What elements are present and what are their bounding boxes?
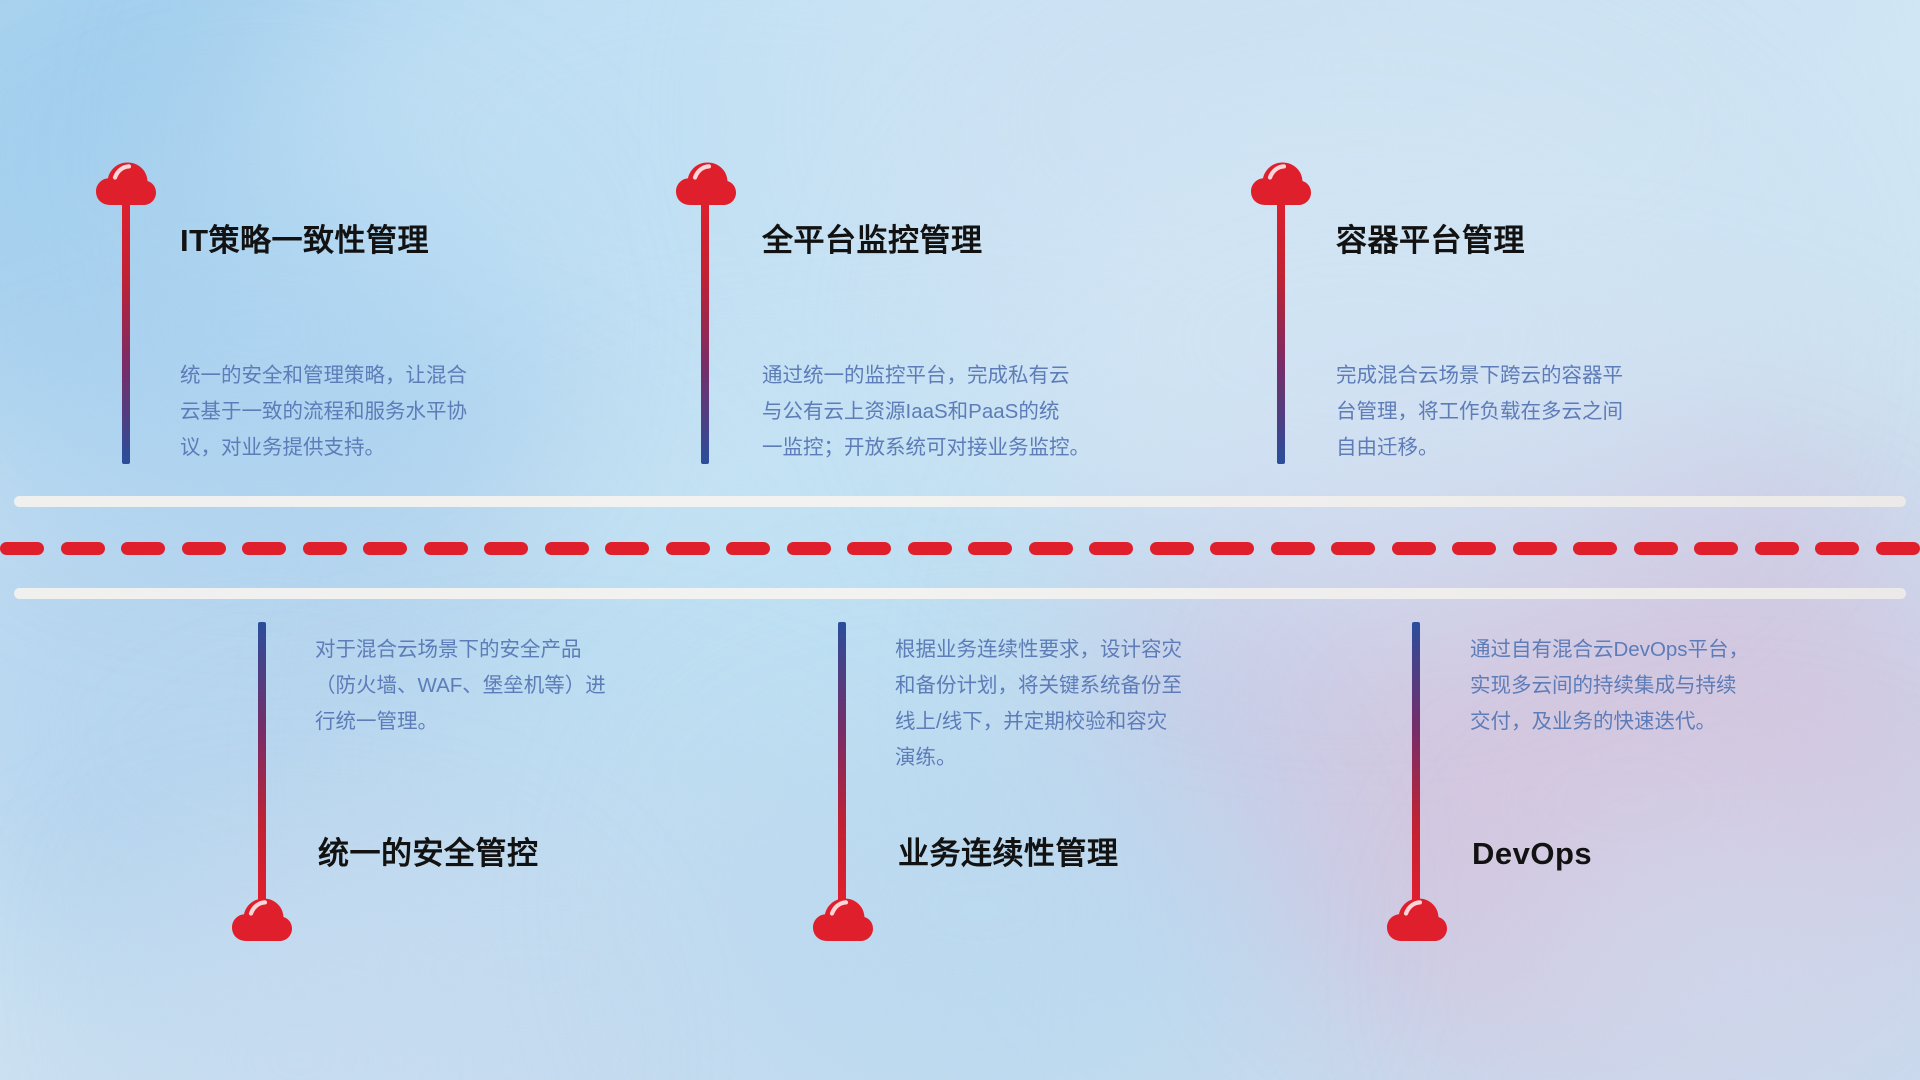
item-heading: 容器平台管理 bbox=[1336, 225, 1525, 256]
separator-dash bbox=[1513, 542, 1557, 555]
item-heading: DevOps bbox=[1472, 838, 1592, 869]
separator-dash bbox=[1089, 542, 1133, 555]
separator-dash bbox=[605, 542, 649, 555]
item-description: 对于混合云场景下的安全产品 （防火墙、WAF、堡垒机等）进 行统一管理。 bbox=[315, 632, 745, 740]
separator-dash bbox=[968, 542, 1012, 555]
item-heading: IT策略一致性管理 bbox=[180, 225, 429, 256]
separator-dash bbox=[182, 542, 226, 555]
separator-dash bbox=[484, 542, 528, 555]
separator-dash bbox=[1573, 542, 1617, 555]
separator-dash bbox=[61, 542, 105, 555]
timeline-pin bbox=[701, 198, 709, 464]
separator-dash bbox=[847, 542, 891, 555]
separator-dash bbox=[424, 542, 468, 555]
item-heading: 统一的安全管控 bbox=[318, 838, 539, 869]
timeline-pin bbox=[1277, 198, 1285, 464]
separator-dash bbox=[303, 542, 347, 555]
separator-dash bbox=[1634, 542, 1678, 555]
separator-dash bbox=[787, 542, 831, 555]
background-blob bbox=[980, 80, 1740, 600]
divider-line-lower bbox=[14, 588, 1906, 599]
separator-dash bbox=[1271, 542, 1315, 555]
separator-dash bbox=[1150, 542, 1194, 555]
cloud-icon bbox=[231, 896, 293, 942]
item-description: 完成混合云场景下跨云的容器平 台管理，将工作负载在多云之间 自由迁移。 bbox=[1336, 358, 1786, 466]
divider-line-upper bbox=[14, 496, 1906, 507]
separator-dash bbox=[908, 542, 952, 555]
separator-dash bbox=[121, 542, 165, 555]
item-description: 通过自有混合云DevOps平台， 实现多云间的持续集成与持续 交付，及业务的快速… bbox=[1470, 632, 1890, 740]
separator-dash bbox=[726, 542, 770, 555]
item-heading: 业务连续性管理 bbox=[898, 838, 1119, 869]
item-description: 通过统一的监控平台，完成私有云 与公有云上资源IaaS和PaaS的统 一监控；开… bbox=[762, 358, 1232, 466]
cloud-icon bbox=[812, 896, 874, 942]
separator-dash bbox=[666, 542, 710, 555]
separator-dash bbox=[1755, 542, 1799, 555]
separator-dash bbox=[1876, 542, 1920, 555]
separator-dash bbox=[1210, 542, 1254, 555]
separator-dash bbox=[1331, 542, 1375, 555]
separator-dash bbox=[0, 542, 44, 555]
cloud-icon bbox=[1386, 896, 1448, 942]
timeline-pin bbox=[258, 622, 266, 902]
separator-dash bbox=[1815, 542, 1859, 555]
item-description: 统一的安全和管理策略，让混合 云基于一致的流程和服务水平协 议，对业务提供支持。 bbox=[180, 358, 620, 466]
item-description: 根据业务连续性要求，设计容灾 和备份计划，将关键系统备份至 线上/线下，并定期校… bbox=[895, 632, 1335, 776]
separator-dash bbox=[242, 542, 286, 555]
separator-dash bbox=[1452, 542, 1496, 555]
timeline-pin bbox=[838, 622, 846, 902]
item-heading: 全平台监控管理 bbox=[762, 225, 983, 256]
separator-dash bbox=[1392, 542, 1436, 555]
separator-dash bbox=[1694, 542, 1738, 555]
timeline-pin bbox=[1412, 622, 1420, 902]
timeline-pin bbox=[122, 198, 130, 464]
separator-dash bbox=[1029, 542, 1073, 555]
red-dashed-separator bbox=[0, 542, 1920, 555]
separator-dash bbox=[363, 542, 407, 555]
separator-dash bbox=[545, 542, 589, 555]
